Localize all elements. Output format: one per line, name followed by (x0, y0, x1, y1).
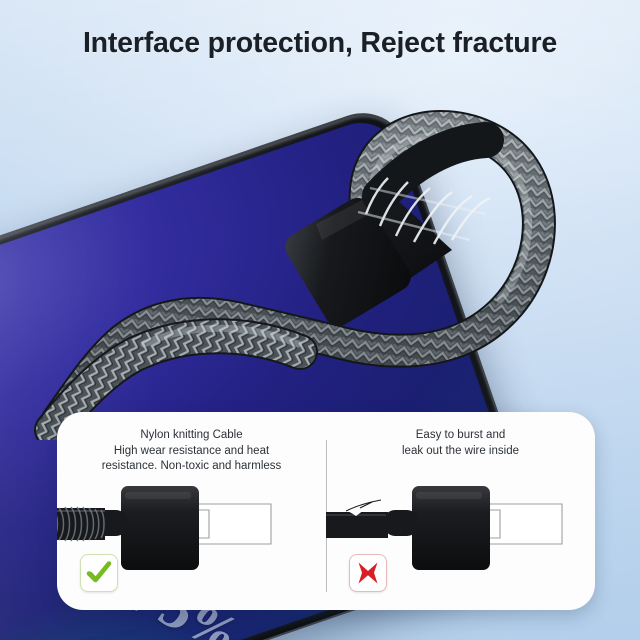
cable-connector-head (280, 186, 452, 331)
cross-icon (355, 560, 381, 586)
page-title: Interface protection, Reject fracture (0, 27, 640, 60)
comparison-column-bad: Easy to burst and leak out the wire insi… (326, 412, 595, 610)
check-icon (86, 560, 112, 586)
product-marketing-image: 75% (0, 0, 640, 640)
comparison-panel: Nylon knitting Cable High wear resistanc… (57, 412, 595, 610)
comparison-column-good: Nylon knitting Cable High wear resistanc… (57, 412, 326, 610)
ribbed-sleeve (57, 507, 105, 541)
good-badge (80, 554, 118, 592)
bad-badge (349, 554, 387, 592)
hero-cable-illustration (0, 0, 640, 440)
